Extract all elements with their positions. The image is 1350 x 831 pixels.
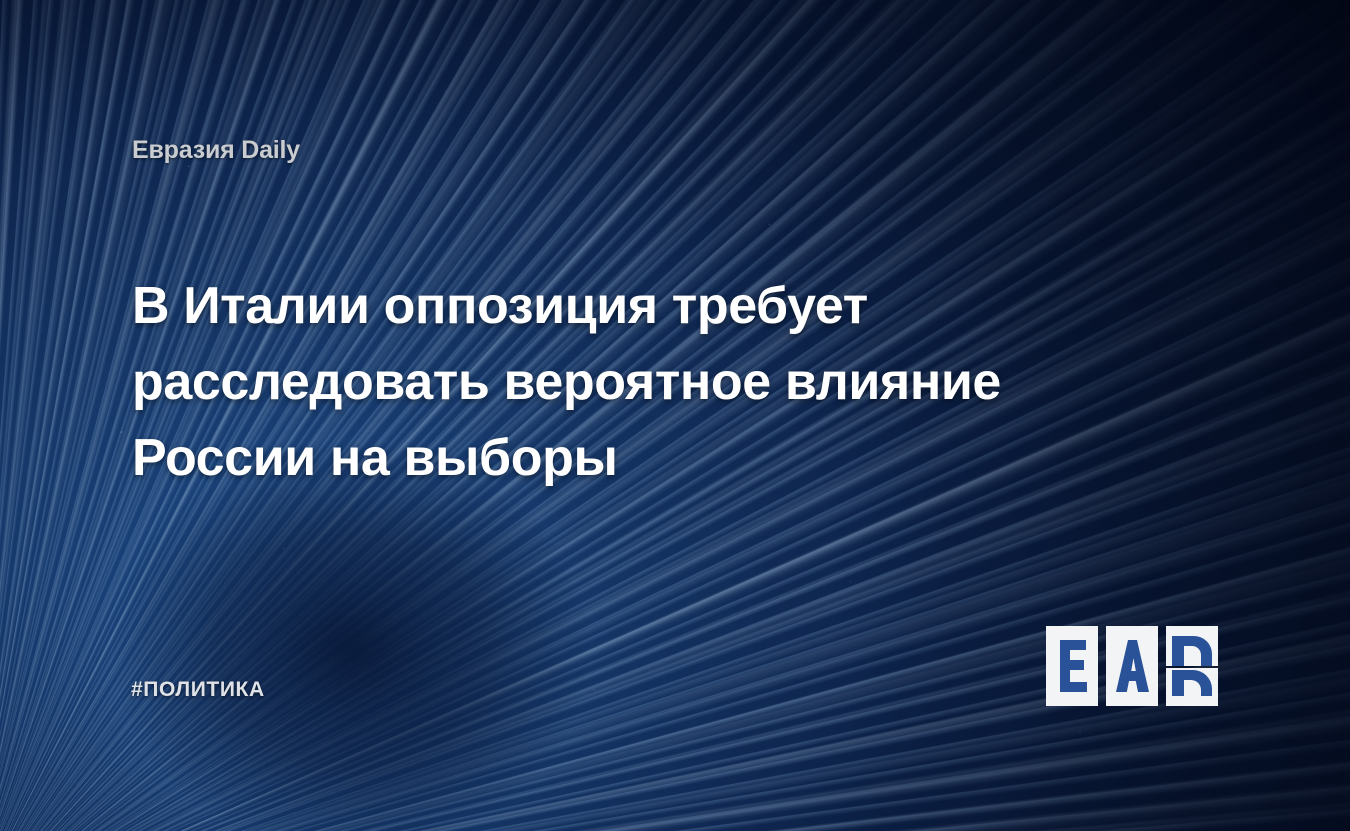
news-card: Евразия Daily В Италии оппозиция требует… (0, 0, 1350, 831)
category-hashtag[interactable]: #ПОЛИТИКА (131, 678, 265, 702)
logo-letter-e (1060, 640, 1087, 692)
headline-line-2: расследовать вероятное влияние (132, 344, 1062, 420)
publication-byline: Евразия Daily (132, 136, 300, 165)
headline-line-1: В Италии оппозиция требует (132, 268, 1062, 344)
eadaily-logo (1046, 622, 1230, 710)
headline: В Италии оппозиция требует расследовать … (132, 268, 1062, 496)
eadaily-logo-svg (1046, 622, 1230, 710)
headline-line-3: России на выборы (132, 420, 1062, 496)
card-content: Евразия Daily В Италии оппозиция требует… (0, 0, 1350, 831)
